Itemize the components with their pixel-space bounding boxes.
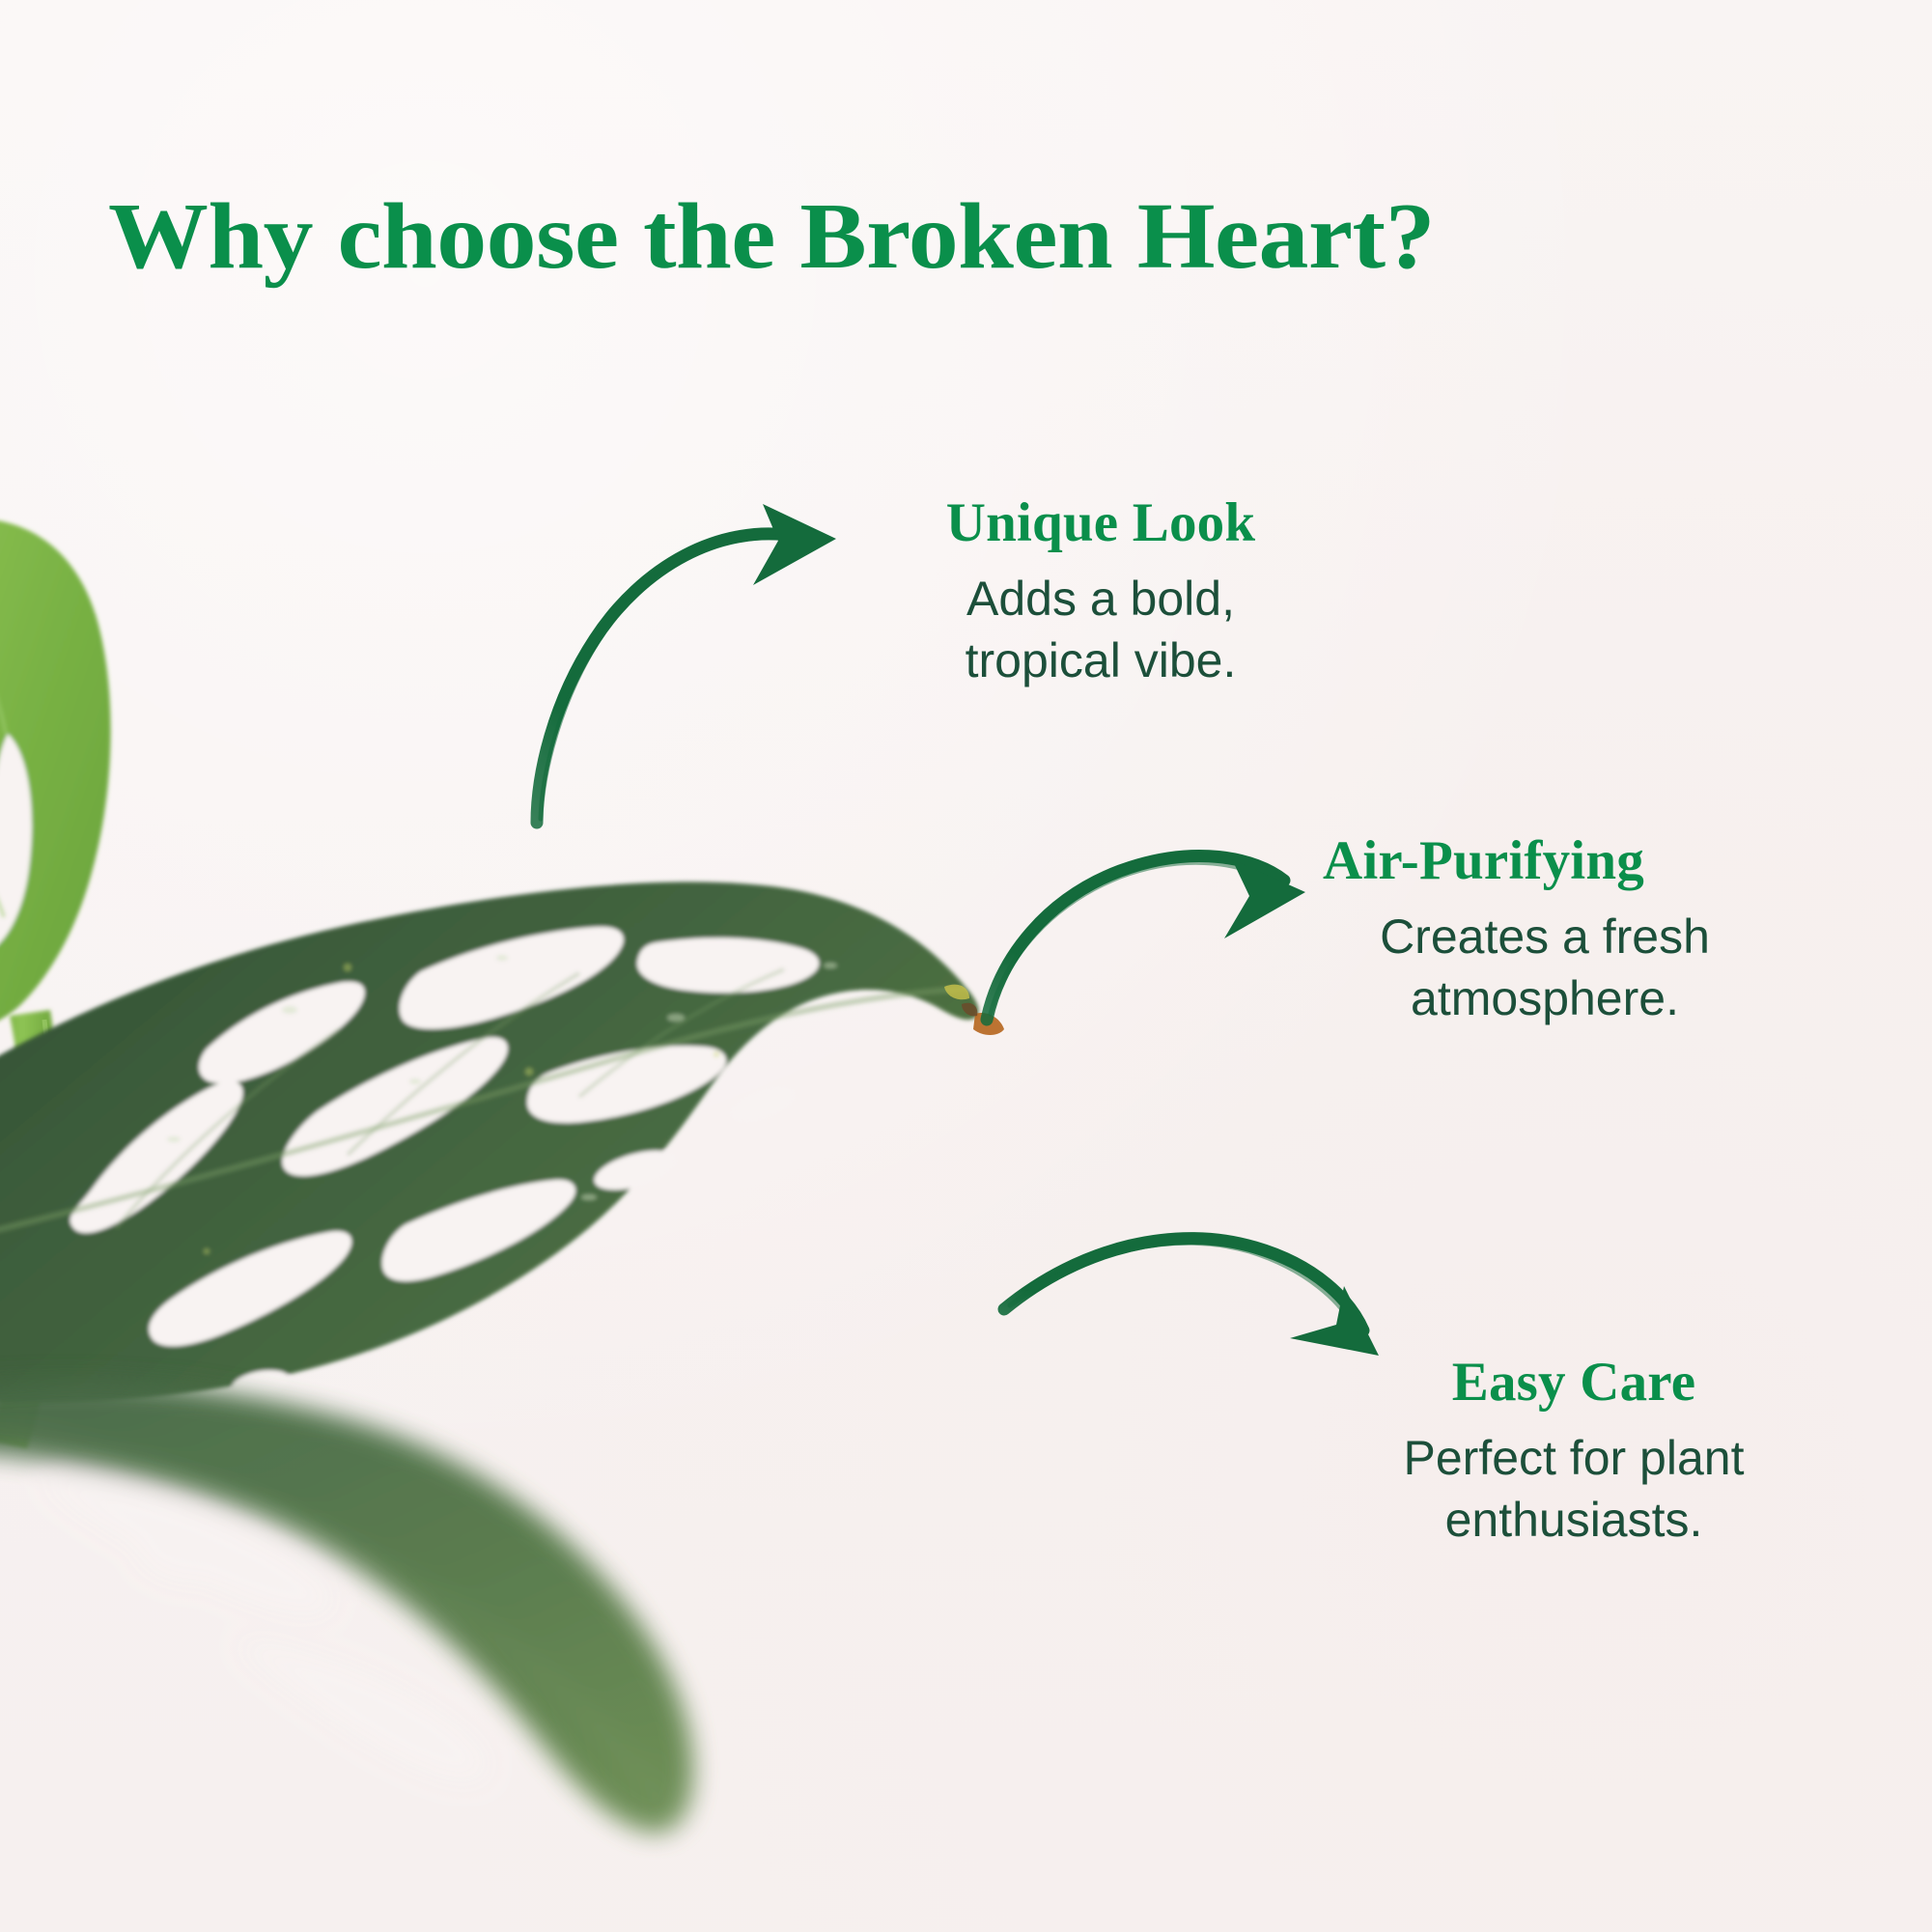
callout-body-air-purifying: Creates a fresh atmosphere. bbox=[1313, 906, 1777, 1029]
callout-heading-air-purifying: Air-Purifying bbox=[1323, 830, 1777, 892]
callout-body-unique-look: Adds a bold, tropical vibe. bbox=[898, 568, 1303, 691]
callout-heading-easy-care: Easy Care bbox=[1371, 1352, 1777, 1414]
arrow-to-unique-look-icon bbox=[537, 504, 836, 823]
callout-body-easy-care: Perfect for plant enthusiasts. bbox=[1371, 1427, 1777, 1551]
arrow-to-easy-care-icon bbox=[1004, 1239, 1379, 1356]
plant-stem bbox=[0, 1010, 61, 1448]
callout-easy-care: Easy Care Perfect for plant enthusiasts. bbox=[1371, 1352, 1777, 1551]
infographic-canvas: Why choose the Broken Heart? Unique Look… bbox=[0, 0, 1932, 1932]
callout-air-purifying: Air-Purifying Creates a fresh atmosphere… bbox=[1323, 830, 1777, 1029]
page-title: Why choose the Broken Heart? bbox=[108, 189, 1435, 286]
arrow-to-air-purifying-icon bbox=[987, 856, 1305, 1020]
young-leaf bbox=[0, 518, 111, 1041]
callout-unique-look: Unique Look Adds a bold, tropical vibe. bbox=[898, 492, 1303, 691]
leaf-tip-detail bbox=[944, 985, 1004, 1035]
lower-blurred-leaf bbox=[0, 1381, 693, 1833]
main-monstera-leaf bbox=[0, 882, 979, 1402]
callout-heading-unique-look: Unique Look bbox=[898, 492, 1303, 554]
